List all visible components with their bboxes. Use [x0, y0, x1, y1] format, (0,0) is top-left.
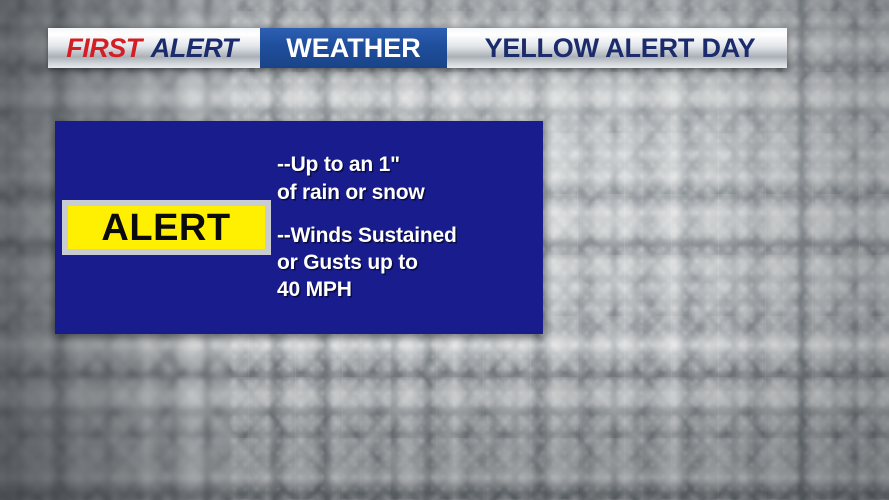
alert-badge-container: ALERT [55, 200, 277, 255]
banner-yellow-alert-day-text: YELLOW ALERT DAY [485, 33, 756, 64]
bullet-line: --Winds Sustained [277, 222, 533, 249]
bullet-line: of rain or snow [277, 179, 533, 206]
brand-alert-text: ALERT [151, 33, 238, 64]
alert-bullet-wind: --Winds Sustained or Gusts up to 40 MPH [277, 222, 533, 304]
bullet-line: --Up to an 1" [277, 151, 533, 178]
alert-badge: ALERT [62, 200, 271, 255]
banner-brand-segment: FIRST ALERT [48, 28, 260, 68]
banner-weather-text: WEATHER [286, 33, 421, 64]
banner-weather-segment: WEATHER [260, 28, 447, 68]
alert-bullet-list: --Up to an 1" of rain or snow --Winds Su… [277, 151, 543, 303]
alert-badge-label: ALERT [101, 209, 230, 247]
first-alert-weather-banner: FIRST ALERT WEATHER YELLOW ALERT DAY [48, 28, 787, 68]
brand-first-text: FIRST [66, 33, 142, 64]
weather-alert-graphic: FIRST ALERT WEATHER YELLOW ALERT DAY ALE… [0, 0, 889, 500]
alert-bullet-precipitation: --Up to an 1" of rain or snow [277, 151, 533, 206]
alert-detail-panel: ALERT --Up to an 1" of rain or snow --Wi… [55, 121, 543, 334]
bullet-line: 40 MPH [277, 276, 533, 303]
bullet-line: or Gusts up to [277, 249, 533, 276]
banner-headline-segment: YELLOW ALERT DAY [447, 28, 787, 68]
